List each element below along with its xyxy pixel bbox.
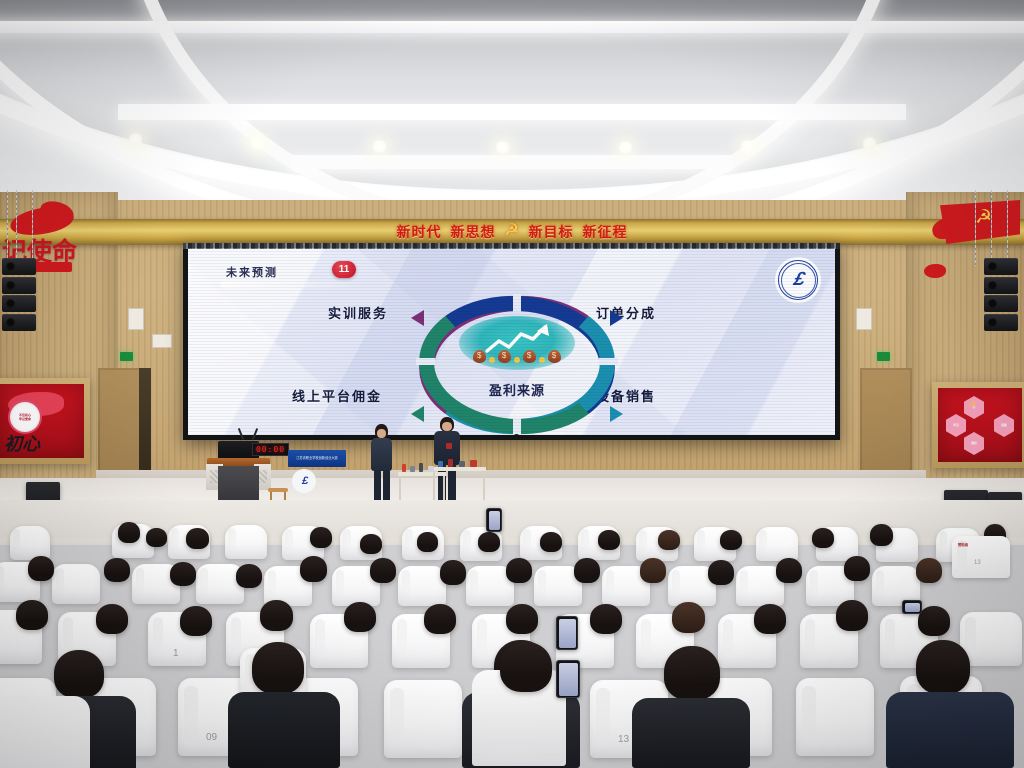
seat-number: 13 bbox=[974, 560, 981, 566]
chair[interactable] bbox=[960, 612, 1022, 666]
audience-head bbox=[310, 527, 332, 548]
podium-sign-text: 江苏省职业学校创新创业大赛 bbox=[296, 456, 337, 460]
audience-head bbox=[146, 528, 167, 547]
audience-head bbox=[754, 604, 786, 634]
chair[interactable] bbox=[52, 564, 100, 604]
audience-seating: 赞助商 13 1 bbox=[0, 500, 1024, 768]
audience-shoulders bbox=[632, 698, 750, 768]
hex-emblem-icon: ☭ bbox=[968, 399, 976, 410]
ceiling-downlight bbox=[861, 137, 878, 150]
audience-head bbox=[598, 530, 620, 550]
audience-head bbox=[500, 642, 552, 692]
ring-label-top-left: 实训服务 bbox=[328, 303, 388, 322]
institution-logo-icon: £ bbox=[775, 257, 821, 303]
money-bags-rising-arrow-icon bbox=[459, 316, 575, 370]
ring-gap bbox=[513, 294, 521, 312]
ceiling-downlight bbox=[617, 141, 634, 154]
ring-gap bbox=[513, 418, 521, 435]
ring-label-bottom-left: 线上平台佣金 bbox=[292, 386, 382, 405]
line-array-speaker-left bbox=[2, 258, 36, 332]
school-emblem-icon: £ bbox=[292, 469, 316, 493]
demo-object bbox=[459, 461, 465, 467]
audience-head bbox=[506, 558, 532, 583]
audience-head bbox=[16, 600, 48, 630]
audience-head bbox=[836, 600, 868, 631]
smartphone[interactable] bbox=[556, 660, 580, 698]
ring-arrow-bottom-left-icon bbox=[411, 406, 424, 422]
right-display-board: 心 牢记 勇担 砥砺 ☭ bbox=[932, 382, 1024, 468]
left-board-circle-badge: 不忘初心 牢记使命 bbox=[8, 400, 42, 434]
right-board-hex-badge: 砥砺 bbox=[994, 414, 1014, 437]
ceiling-downlight bbox=[739, 140, 756, 153]
ceiling bbox=[0, 0, 1024, 232]
audience-head bbox=[640, 558, 666, 583]
chair[interactable] bbox=[756, 527, 798, 561]
audience-head bbox=[424, 604, 456, 634]
audience-head bbox=[252, 642, 304, 694]
demo-object bbox=[438, 461, 443, 467]
audience-head bbox=[844, 556, 870, 581]
presentation-slide: 未来预测 11 £ 实训服务 订单分成 线上平台佣金 设备销售 bbox=[188, 248, 835, 435]
audience-head bbox=[370, 558, 396, 583]
party-emblem-icon bbox=[505, 225, 520, 240]
podium-event-sign: 江苏省职业学校创新创业大赛 bbox=[288, 450, 346, 467]
wall-outlet[interactable] bbox=[152, 334, 172, 348]
led-wall-screen: 未来预测 11 £ 实训服务 订单分成 线上平台佣金 设备销售 bbox=[183, 243, 840, 440]
left-board-script: 初心 bbox=[4, 430, 40, 456]
demo-object bbox=[470, 460, 477, 467]
audience-head bbox=[812, 528, 834, 548]
audience-head bbox=[672, 602, 705, 633]
ceiling-downlight bbox=[249, 137, 266, 150]
banner-segment-2: 新思想 bbox=[451, 222, 496, 242]
audience-head bbox=[28, 556, 54, 581]
chair[interactable] bbox=[225, 525, 267, 559]
audience-head bbox=[300, 556, 327, 582]
audience-head bbox=[574, 558, 600, 583]
demo-object bbox=[402, 464, 406, 472]
ring-center-label: 盈利来源 bbox=[489, 380, 545, 399]
seat-number: 1 bbox=[173, 648, 179, 659]
demo-object bbox=[410, 466, 415, 472]
auditorium-photo: 新时代 新思想 新目标 新征程 记使命 ☭ bbox=[0, 0, 1024, 768]
demo-object bbox=[448, 459, 453, 467]
presenter-left bbox=[370, 424, 394, 510]
ring-gap bbox=[599, 358, 618, 365]
wall-control-panel[interactable] bbox=[856, 308, 872, 330]
audience-head bbox=[776, 558, 802, 583]
left-board-badge-line-2: 牢记使命 bbox=[19, 417, 31, 421]
audience-head bbox=[918, 606, 950, 636]
audience-shoulders bbox=[886, 692, 1014, 768]
audience-head bbox=[54, 650, 104, 698]
slide-title: 未来预测 bbox=[226, 264, 278, 280]
audience-head bbox=[540, 532, 562, 552]
hex-label-2: 牢记 bbox=[953, 424, 959, 427]
banner-segment-3: 新目标 bbox=[529, 222, 574, 242]
screen-bezel bbox=[183, 243, 840, 249]
banner-segment-4: 新征程 bbox=[583, 222, 628, 242]
ring-gap bbox=[416, 358, 435, 365]
line-array-speaker-right bbox=[984, 258, 1018, 332]
countdown-timer-display: 00:00 bbox=[252, 443, 289, 456]
seat-number: 09 bbox=[206, 732, 217, 743]
speaker-chain bbox=[1007, 190, 1008, 262]
right-board-hex-badge: 牢记 bbox=[946, 414, 966, 437]
chair[interactable] bbox=[796, 678, 874, 756]
audience-head bbox=[118, 522, 140, 543]
speaker-chain bbox=[7, 190, 8, 266]
smartphone-camera[interactable] bbox=[486, 508, 502, 532]
brand-tag: 赞助商 bbox=[958, 542, 968, 547]
audience-head bbox=[478, 532, 500, 552]
audience-head bbox=[916, 640, 970, 694]
smartphone[interactable] bbox=[556, 616, 578, 650]
exit-sign-icon bbox=[877, 352, 890, 361]
hex-label-4: 砥砺 bbox=[1001, 424, 1007, 427]
ceiling-downlight bbox=[494, 141, 511, 154]
wall-banner: 新时代 新思想 新目标 新征程 bbox=[0, 219, 1024, 245]
ring-diagram: 盈利来源 bbox=[419, 296, 615, 434]
speaker-chain bbox=[16, 190, 17, 262]
slide-title-rule bbox=[220, 281, 365, 288]
ring-arrow-top-left-icon bbox=[411, 310, 424, 326]
audience-head bbox=[440, 560, 466, 585]
speaker-chain bbox=[32, 190, 33, 258]
right-board-hex-badge: 勇担 bbox=[964, 432, 984, 455]
ceiling-downlight bbox=[371, 140, 388, 153]
audience-head bbox=[180, 606, 212, 636]
audience-head bbox=[344, 602, 376, 632]
chair[interactable] bbox=[10, 526, 50, 560]
chair-branded-cover[interactable]: 赞助商 13 bbox=[952, 536, 1010, 578]
audience-head bbox=[720, 530, 742, 550]
timer-value: 00:00 bbox=[256, 445, 285, 454]
slide-bullet-dot bbox=[513, 434, 520, 435]
speaker-chain bbox=[991, 190, 992, 258]
seat-number: 13 bbox=[618, 734, 629, 745]
hammer-sickle-icon: ☭ bbox=[975, 206, 992, 229]
slide-page-badge: 11 bbox=[332, 261, 356, 278]
audience-head bbox=[186, 528, 209, 549]
ceiling-panel-lower bbox=[292, 155, 732, 169]
speaker-chain bbox=[975, 190, 976, 266]
audience-head bbox=[708, 560, 734, 585]
audience-head bbox=[417, 532, 438, 552]
demo-object bbox=[428, 466, 434, 472]
ceiling-panel-upper bbox=[118, 104, 906, 120]
audience-head bbox=[658, 530, 680, 550]
ring-arrow-top-right-icon bbox=[610, 310, 623, 326]
hex-label-3: 勇担 bbox=[971, 442, 977, 445]
chair[interactable] bbox=[384, 680, 462, 758]
demo-object bbox=[419, 463, 423, 472]
banner-segment-1: 新时代 bbox=[397, 222, 442, 242]
audience-head bbox=[96, 604, 128, 634]
ceiling-downlight bbox=[127, 133, 144, 146]
audience-shoulders-light bbox=[0, 696, 90, 768]
audience-head bbox=[170, 562, 196, 586]
audience-head bbox=[916, 558, 942, 583]
audience-head bbox=[104, 558, 130, 582]
left-display-board: 不忘初心 牢记使命 初心 bbox=[0, 378, 90, 464]
audience-head bbox=[870, 524, 893, 546]
ring-arrow-bottom-right-icon bbox=[610, 406, 623, 422]
audience-head bbox=[506, 604, 538, 634]
audience-head bbox=[360, 534, 382, 554]
exit-sign-icon bbox=[120, 352, 133, 361]
smartphone-camera[interactable] bbox=[902, 600, 922, 614]
audience-head bbox=[260, 600, 293, 631]
wall-control-panel[interactable] bbox=[128, 308, 144, 330]
audience-head bbox=[664, 646, 720, 700]
audience-head bbox=[590, 604, 622, 634]
chair[interactable] bbox=[398, 566, 446, 606]
audience-shoulders bbox=[228, 692, 340, 768]
audience-head bbox=[236, 564, 262, 588]
